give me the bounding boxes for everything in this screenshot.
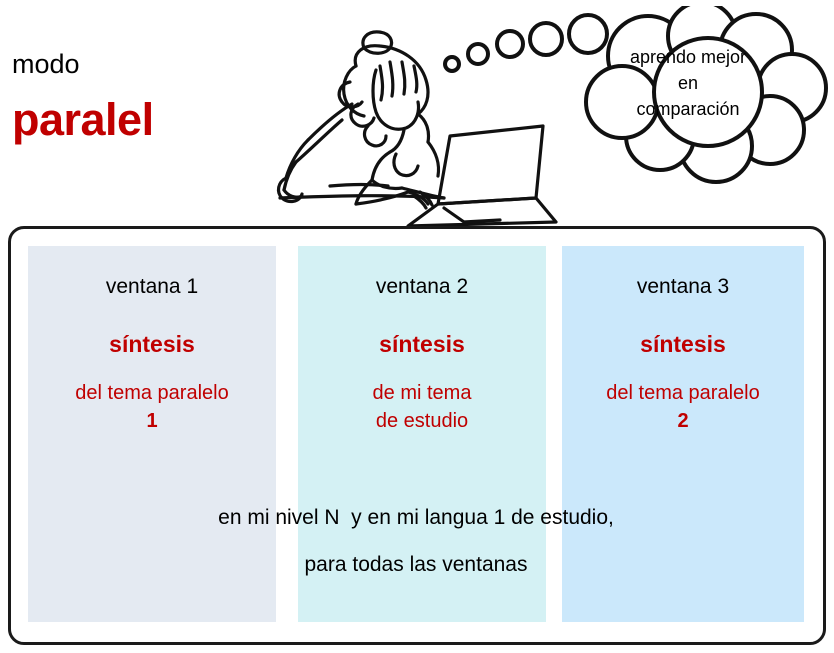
sintesis-heading-3: síntesis [562,331,804,357]
window-column-2[interactable]: ventana 2 síntesis de mi tema de estudio [298,246,546,622]
cloud-line-3: comparación [588,96,788,122]
thought-dot-1 [445,57,459,71]
page-title-paralel: paralel [12,94,154,146]
column-desc-line2-2: de estudio [298,407,546,435]
sintesis-heading-2: síntesis [298,331,546,357]
window-column-3[interactable]: ventana 3 síntesis del tema paralelo 2 [562,246,804,622]
column-desc-line1-3: del tema paralelo [562,379,804,407]
column-desc-line1-2: de mi tema [298,379,546,407]
window-label-2: ventana 2 [298,274,546,300]
window-label-1: ventana 1 [28,274,276,300]
thought-dot-4 [530,23,562,55]
page-title-modo: modo [12,49,80,79]
header-area: modo paralel [0,0,834,226]
thought-dot-3 [497,31,523,57]
window-label-3: ventana 3 [562,274,804,300]
sintesis-heading-1: síntesis [28,331,276,357]
cloud-line-1: aprendo mejor [588,44,788,70]
thought-cloud-text: aprendo mejor en comparación [588,44,788,122]
thought-dot-2 [468,44,488,64]
column-desc-line2-3: 2 [562,407,804,435]
window-column-1[interactable]: ventana 1 síntesis del tema paralelo 1 [28,246,276,622]
column-desc-line1-1: del tema paralelo [28,379,276,407]
window-columns: ventana 1 síntesis del tema paralelo 1 v… [28,246,804,622]
cloud-line-2: en [588,70,788,96]
column-desc-line2-1: 1 [28,407,276,435]
